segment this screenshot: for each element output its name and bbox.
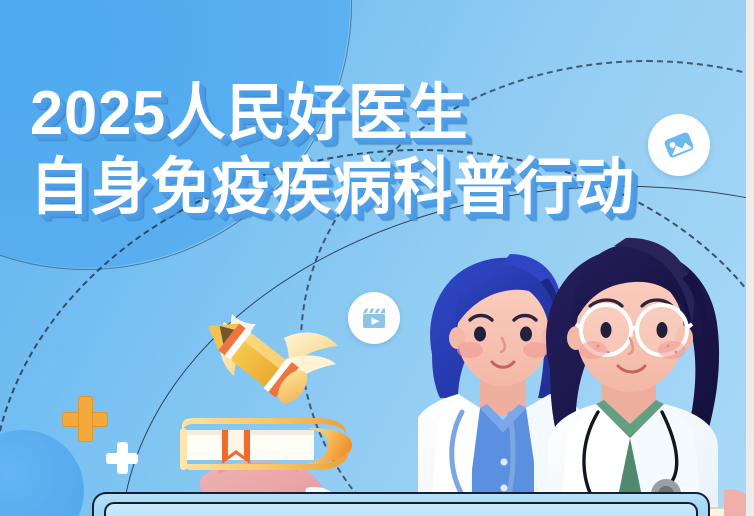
open-book-illustration [176,412,356,482]
photo-badge[interactable] [648,114,710,176]
image-photo-icon [660,126,698,164]
poster-banner: 2025人民好医生 自身免疫疾病科普行动 [0,0,754,516]
plus-decor-white [106,442,138,474]
desk-counter-inner [104,502,698,516]
page-title: 2025人民好医生 自身免疫疾病科普行动 [30,84,660,217]
video-badge[interactable] [348,292,400,344]
doctors-illustration [418,222,754,516]
title-line-1: 2025人民好医生 [30,84,635,144]
title-line-2: 自身免疫疾病科普行动 [30,158,635,218]
right-edge-strip [746,0,754,516]
video-clapperboard-icon [358,302,390,334]
plus-decor-orange [62,396,108,442]
doctor-right [546,238,754,516]
